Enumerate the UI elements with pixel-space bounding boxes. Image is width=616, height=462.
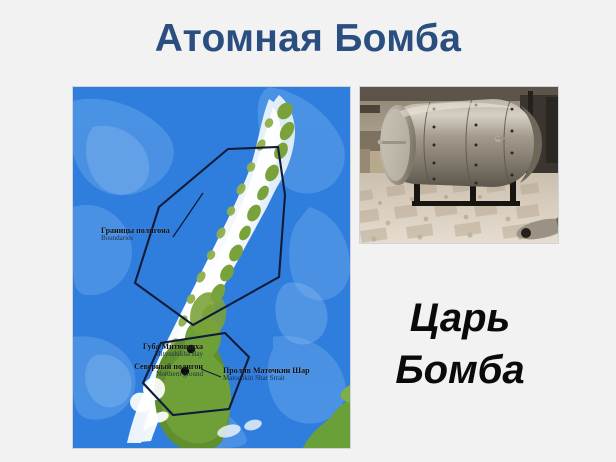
slide-canvas: Атомная Бомба — [0, 0, 616, 462]
bomb-caption: Царь Бомба — [360, 292, 560, 396]
caption-line-1: Царь — [360, 292, 560, 344]
map-image[interactable]: Границы полигона Boundaries Губа Митюших… — [73, 87, 350, 448]
bomb-photo-graphic — [360, 87, 558, 243]
caption-line-2: Бомба — [360, 344, 560, 396]
bomb-photo[interactable] — [360, 87, 558, 243]
page-title: Атомная Бомба — [0, 16, 616, 62]
map-graphic — [73, 87, 350, 448]
